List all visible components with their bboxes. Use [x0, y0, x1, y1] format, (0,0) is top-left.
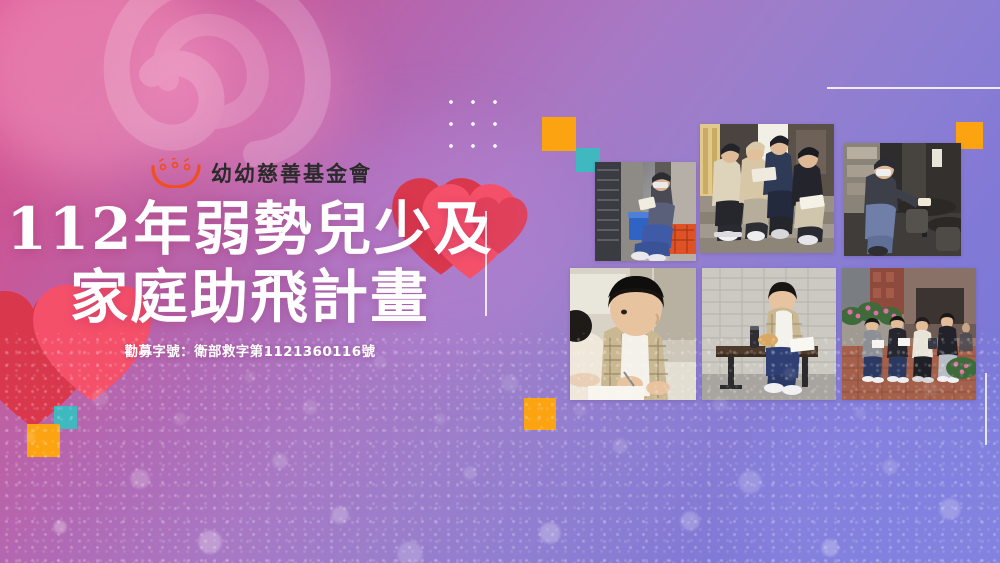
dot-grid-pattern — [437, 88, 509, 160]
photo-student-reading-in-alley — [595, 162, 696, 261]
page-title: 112年弱勢兒少及 家庭助飛計畫 — [0, 195, 500, 331]
square-orange-top — [542, 117, 576, 151]
charity-registration-number: 勸募字號：衛部救字第1121360116號 — [0, 340, 500, 360]
swirl-watermark-icon — [60, 0, 360, 222]
square-orange-bottom-left — [27, 424, 60, 457]
rule-vertical-bottom-right — [985, 373, 987, 445]
poster-canvas: 幼幼慈善基金會 112年弱勢兒少及 家庭助飛計畫 勸募字號：衛部救字第11213… — [0, 0, 1000, 563]
brand-name: 幼幼慈善基金會 — [211, 158, 372, 188]
photo-student-wiping-restaurant-table — [844, 143, 961, 256]
dot-column-pattern — [985, 255, 993, 345]
square-orange-bottom-center — [524, 398, 556, 430]
brand-lockup: 幼幼慈善基金會 — [150, 158, 372, 188]
glow-pink-mid — [150, 10, 350, 180]
rule-horizontal-top-right — [827, 87, 1000, 89]
smiling-face-logo-icon — [150, 158, 202, 188]
page-title-line-2: 家庭助飛計畫 — [0, 263, 500, 331]
glow-bottom-right — [740, 373, 1000, 563]
photo-students-walking-on-campus — [842, 268, 976, 400]
photo-students-studying-on-steps — [700, 124, 834, 253]
photo-student-reading-on-bench — [702, 268, 836, 400]
page-title-line-1: 112年弱勢兒少及 — [0, 195, 500, 263]
glow-top-left — [0, 0, 220, 180]
photo-student-writing-at-desk — [570, 268, 696, 400]
